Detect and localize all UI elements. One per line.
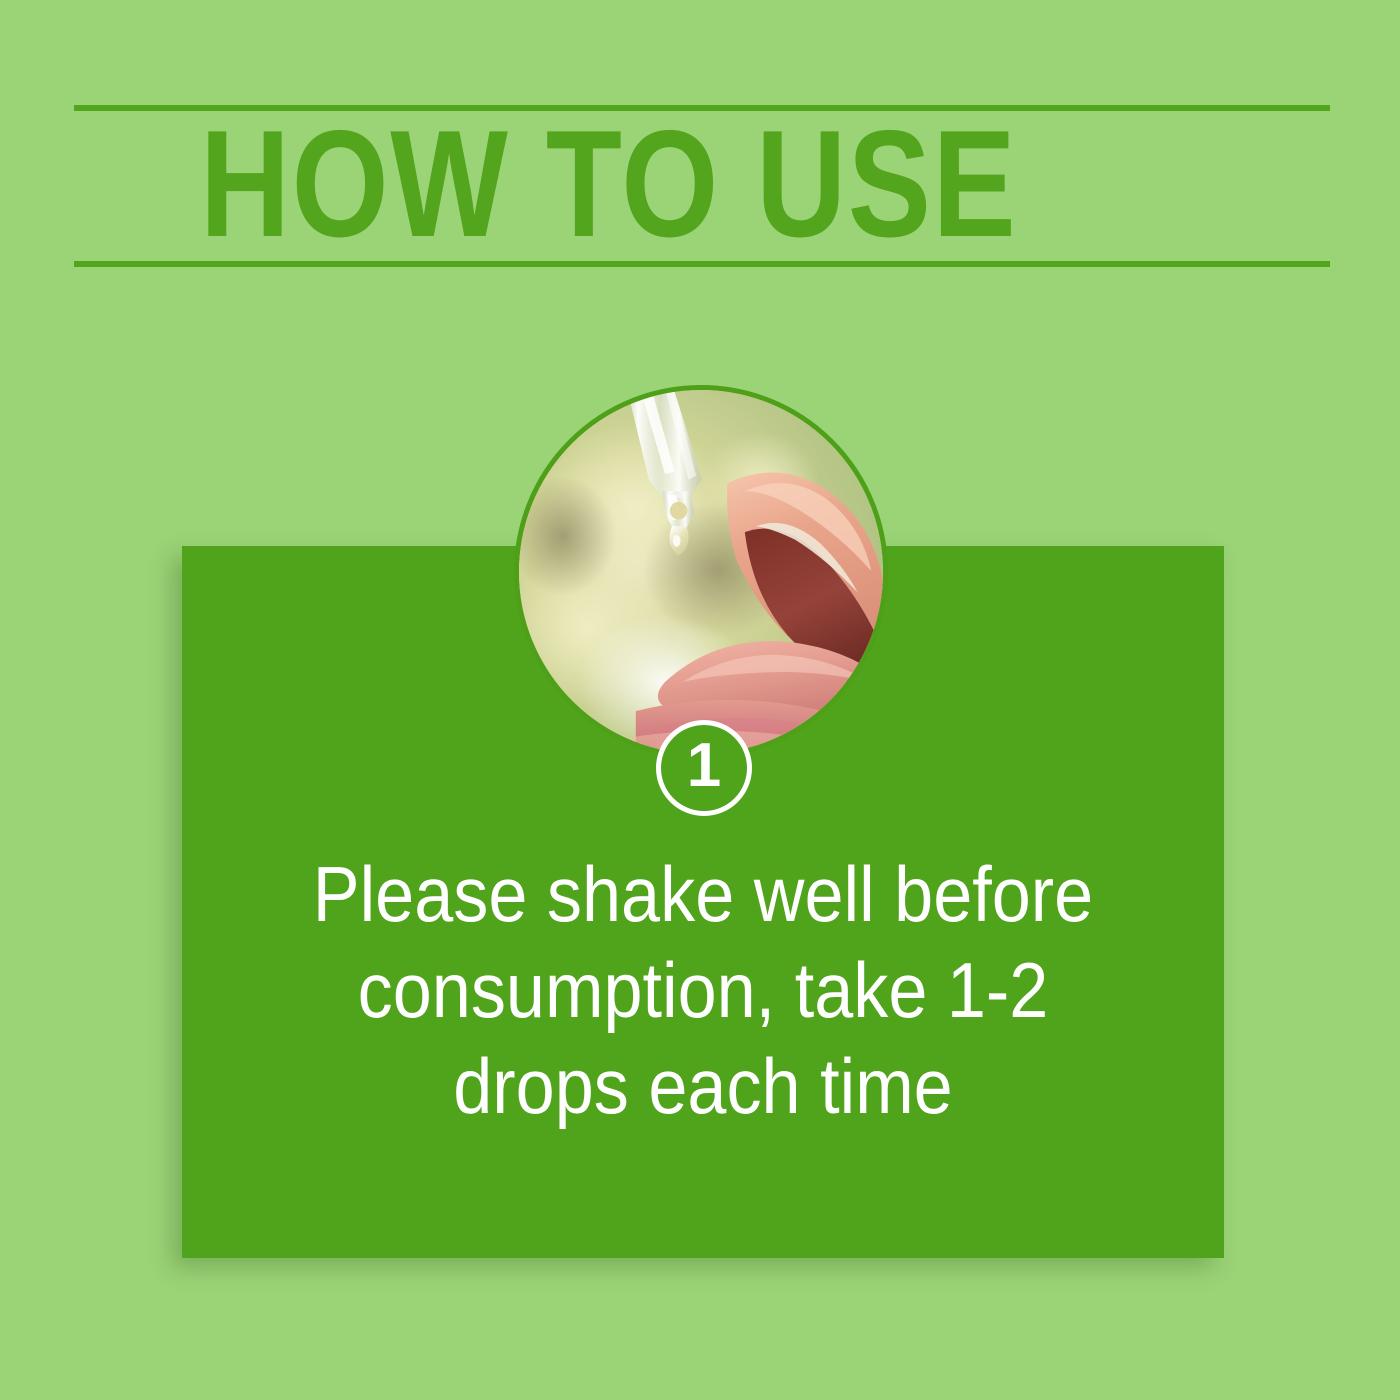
instruction-text: Please shake well before consumption, ta… <box>270 846 1136 1134</box>
step-number-label: 1 <box>687 735 721 797</box>
header: HOW TO USE <box>74 100 1330 272</box>
step-photo <box>514 385 888 759</box>
how-to-use-infographic: HOW TO USE Please shake well before cons… <box>0 0 1400 1400</box>
header-rule-bottom <box>74 261 1330 267</box>
step-number-badge: 1 <box>656 720 752 816</box>
page-title: HOW TO USE <box>200 106 1127 262</box>
dropper-mouth-photo-icon <box>519 390 883 754</box>
